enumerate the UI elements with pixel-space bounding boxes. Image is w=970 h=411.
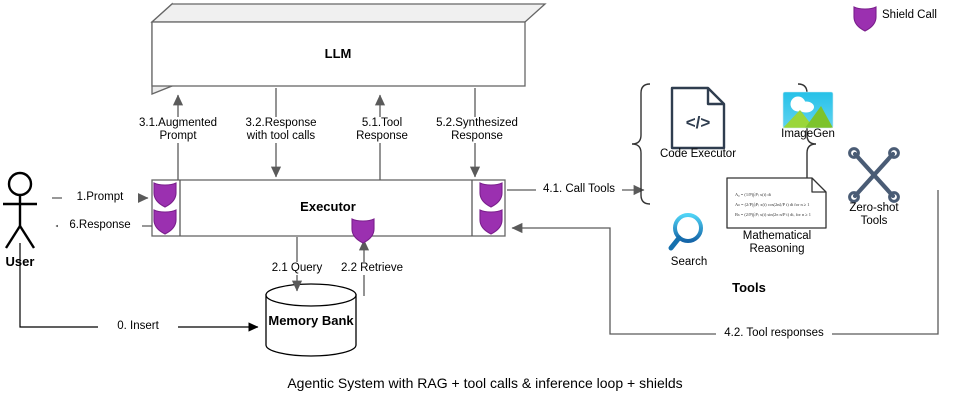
code-document-icon: </>: [672, 88, 724, 148]
diagram-graphics: </> A₀ = (1/P)∫₍P₎ x(t) dt Aₙ = (2/P)∫₍P…: [0, 0, 970, 411]
tool-label-search: Search: [660, 256, 718, 269]
edge-label-call-tools: 4.1. Call Tools: [536, 183, 622, 196]
edge-label-retrieve: 2.2 Retrieve: [332, 262, 412, 275]
math-document-icon: A₀ = (1/P)∫₍P₎ x(t) dt Aₙ = (2/P)∫₍P₎ x(…: [727, 178, 826, 228]
tools-group-label: Tools: [694, 281, 804, 294]
tool-label-code-executor: Code Executor: [648, 148, 748, 161]
legend-shield-label: Shield Call: [882, 9, 962, 22]
diagram-caption: Agentic System with RAG + tool calls & i…: [0, 375, 970, 391]
edge-label-prompt: 1.Prompt: [62, 191, 138, 204]
executor-label: Executor: [268, 200, 388, 213]
diagram-canvas: </> A₀ = (1/P)∫₍P₎ x(t) dt Aₙ = (2/P)∫₍P…: [0, 0, 970, 411]
edge-label-tool-response: 5.1.Tool Response: [344, 117, 420, 143]
tool-label-zero-shot-tools: Zero-shot Tools: [842, 202, 906, 228]
edge-label-query: 2.1 Query: [262, 262, 332, 275]
tools-brace-left: [632, 84, 650, 204]
shield-icon-legend: [854, 7, 876, 31]
user-actor-icon: [3, 173, 37, 248]
edge-label-response-tool-calls: 3.2.Response with tool calls: [236, 117, 326, 143]
crossed-wrenches-icon: [850, 149, 899, 202]
shield-icon-executor-memory: [352, 219, 374, 243]
user-label: User: [0, 255, 50, 268]
edge-label-response: 6.Response: [58, 219, 142, 232]
edge-label-insert: 0. Insert: [98, 320, 178, 333]
magnifier-icon: [671, 215, 701, 248]
edge-label-synthesized-response: 5.2.Synthesized Response: [430, 117, 524, 143]
edge-label-tool-responses: 4.2. Tool responses: [716, 327, 832, 340]
svg-text:</>: </>: [686, 113, 711, 132]
tool-label-mathematical-reasoning: Mathematical Reasoning: [730, 230, 824, 256]
tool-label-imagegen: ImageGen: [768, 128, 848, 141]
image-picture-icon: [783, 92, 833, 128]
edge-label-augmented-prompt: 3.1.Augmented Prompt: [138, 117, 218, 143]
llm-label: LLM: [278, 47, 398, 60]
edge-insert: [20, 243, 258, 327]
memory-bank-label: Memory Bank: [256, 314, 366, 327]
